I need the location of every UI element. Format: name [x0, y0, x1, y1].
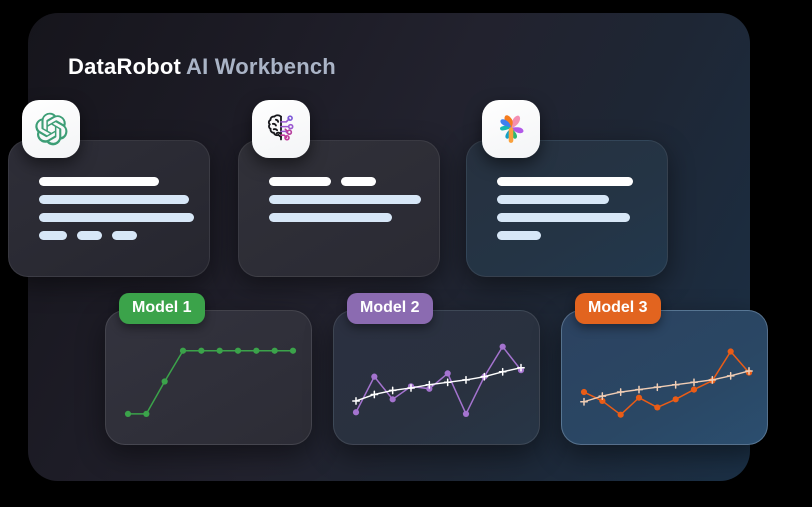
chart-point — [143, 411, 149, 417]
chart-point — [390, 396, 396, 402]
model-chart-2 — [334, 311, 539, 444]
chart-point — [599, 393, 605, 399]
chart-point — [499, 369, 505, 375]
brain-circuit-icon[interactable] — [252, 100, 310, 158]
chart-point — [672, 382, 678, 388]
model-card-2[interactable]: Model 2 — [333, 310, 540, 445]
chart-point — [217, 348, 223, 354]
chart-line — [128, 351, 293, 414]
model-chart-1 — [106, 311, 311, 444]
skeleton-bar — [497, 231, 541, 240]
chart-point — [636, 395, 642, 401]
chart-point — [618, 412, 624, 418]
chart-point — [691, 379, 697, 385]
model-card-1[interactable]: Model 1 — [105, 310, 312, 445]
skeleton-bar — [39, 195, 189, 204]
skeleton-bar — [497, 213, 630, 222]
chart-point — [125, 411, 131, 417]
chart-point — [180, 348, 186, 354]
chart-point — [500, 344, 506, 350]
skeleton-bar — [269, 177, 331, 186]
skeleton-bar — [269, 195, 421, 204]
product-name: AI Workbench — [186, 54, 336, 79]
skeleton-bar — [39, 213, 194, 222]
chart-point — [253, 348, 259, 354]
chart-point — [463, 377, 469, 383]
chart-point — [636, 386, 642, 392]
skeleton-bar — [39, 177, 159, 186]
chart-point — [654, 404, 660, 410]
brand-name: DataRobot — [68, 54, 181, 79]
skeleton-bar — [77, 231, 102, 240]
provider-card-lines — [497, 177, 645, 249]
provider-card-brain[interactable] — [238, 140, 440, 277]
palm-flower-icon[interactable] — [482, 100, 540, 158]
chart-point — [235, 348, 241, 354]
skeleton-bar — [39, 231, 67, 240]
chart-point — [371, 391, 377, 397]
chart-point — [198, 348, 204, 354]
skeleton-bar-row — [39, 231, 187, 240]
skeleton-bar — [269, 213, 392, 222]
skeleton-bar — [341, 177, 376, 186]
provider-card-lines — [39, 177, 187, 240]
chart-point — [728, 348, 734, 354]
chart-point — [371, 374, 377, 380]
skeleton-bar — [112, 231, 137, 240]
chart-point — [272, 348, 278, 354]
palm-flower-glyph — [492, 110, 530, 148]
chart-line — [356, 347, 521, 414]
chart-point — [445, 370, 451, 376]
openai-logo-icon[interactable] — [22, 100, 80, 158]
provider-card-lines — [269, 177, 417, 231]
model-card-3[interactable]: Model 3 — [561, 310, 768, 445]
chart-point — [353, 398, 359, 404]
chart-point — [162, 378, 168, 384]
openai-logo-glyph — [33, 111, 69, 147]
chart-point — [727, 373, 733, 379]
chart-point — [581, 389, 587, 395]
chart-point — [581, 399, 587, 405]
page-title: DataRobotAI Workbench — [68, 54, 336, 80]
skeleton-bar-row — [269, 177, 417, 195]
chart-point — [463, 411, 469, 417]
chart-point — [290, 348, 296, 354]
provider-card-openai[interactable] — [8, 140, 210, 277]
chart-point — [389, 387, 395, 393]
chart-point — [673, 396, 679, 402]
skeleton-bar — [497, 177, 633, 186]
chart-point — [691, 387, 697, 393]
chart-point — [353, 409, 359, 415]
brain-circuit-glyph — [262, 110, 300, 148]
chart-point — [654, 384, 660, 390]
model-chart-3 — [562, 311, 767, 444]
screenshot-root: DataRobotAI Workbench — [0, 0, 812, 507]
provider-card-palm[interactable] — [466, 140, 668, 277]
skeleton-bar — [497, 195, 609, 204]
chart-line — [584, 371, 749, 402]
chart-point — [617, 389, 623, 395]
chart-line — [584, 352, 749, 415]
